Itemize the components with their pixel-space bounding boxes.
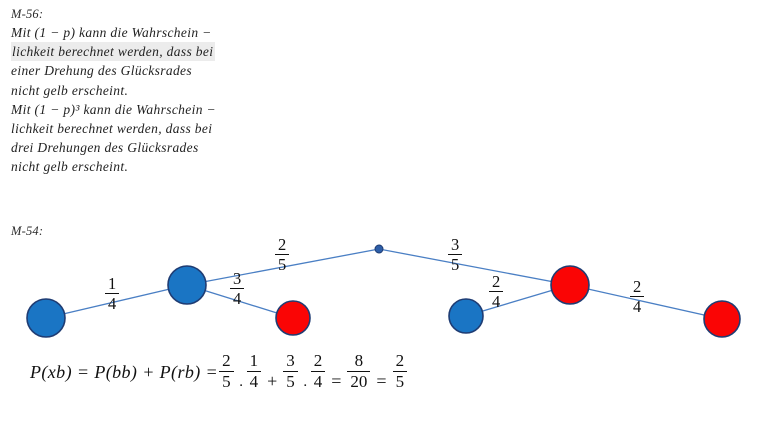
start-node-left[interactable] <box>27 299 65 337</box>
equation-fraction: 820 <box>347 352 370 391</box>
apex-dot-node[interactable] <box>375 245 383 253</box>
m56-line: drei Drehungen des Glücksrades <box>11 138 431 157</box>
probability-tree-diagram: 142534352424 <box>0 228 758 346</box>
fraction-numerator: 2 <box>393 352 408 371</box>
m56-line: nicht gelb erscheint. <box>11 157 431 176</box>
equation-terms: 25·14+35·24=820=25 <box>218 352 408 392</box>
fraction-denominator: 4 <box>230 288 244 307</box>
fraction-denominator: 4 <box>247 371 262 391</box>
equation-left-hand-side: P(xb) = P(bb) + P(rb) = <box>30 362 218 383</box>
fraction-numerator: 2 <box>275 236 289 254</box>
blue-node-level1[interactable] <box>168 266 206 304</box>
equation-fraction: 25 <box>393 352 408 391</box>
m56-line: nicht gelb erscheint. <box>11 81 431 100</box>
fraction-numerator: 1 <box>105 275 119 293</box>
fraction-denominator: 4 <box>489 291 503 310</box>
fraction-denominator: 5 <box>283 371 298 391</box>
red-node-level2-left[interactable] <box>276 301 310 335</box>
m56-line: Mit (1 − p)³ kann die Wahrschein − <box>11 100 431 119</box>
fraction: 34 <box>230 270 244 308</box>
edge-label-two-quarters-right: 24 <box>630 278 644 316</box>
fraction: 25 <box>275 236 289 274</box>
m56-line-text: Mit (1 − p)³ kann die Wahrschein − <box>11 100 431 119</box>
fraction-denominator: 5 <box>393 371 408 391</box>
m56-text-block: M-56: Mit (1 − p) kann die Wahrschein −l… <box>11 6 431 177</box>
m56-line-text: lichkeit berechnet werden, dass bei <box>11 42 215 61</box>
fraction-numerator: 2 <box>219 352 234 371</box>
fraction: 35 <box>448 236 462 274</box>
edge-label-two-quarters-left: 24 <box>489 273 503 311</box>
equation-operator: · <box>235 378 246 394</box>
equation-fraction: 35 <box>283 352 298 391</box>
fraction-numerator: 2 <box>311 352 326 371</box>
red-node-level1-right[interactable] <box>551 266 589 304</box>
m56-line-text: einer Drehung des Glücksrades <box>11 61 431 80</box>
fraction-numerator: 3 <box>230 270 244 288</box>
edge-label-three-quarters: 34 <box>230 270 244 308</box>
edge-label-three-fifths: 35 <box>448 236 462 274</box>
probability-equation: P(xb) = P(bb) + P(rb) = 25·14+35·24=820=… <box>30 352 408 392</box>
m56-line-text: nicht gelb erscheint. <box>11 81 431 100</box>
fraction-numerator: 2 <box>630 278 644 296</box>
fraction-numerator: 2 <box>489 273 503 291</box>
m56-line-text: Mit (1 − p) kann die Wahrschein − <box>11 23 431 42</box>
m56-line: Mit (1 − p) kann die Wahrschein − <box>11 23 431 42</box>
equation-fraction: 24 <box>311 352 326 391</box>
blue-node-level2-right[interactable] <box>449 299 483 333</box>
fraction: 24 <box>489 273 503 311</box>
fraction-numerator: 1 <box>247 352 262 371</box>
m56-line-text: drei Drehungen des Glücksrades <box>11 138 431 157</box>
equation-operator: + <box>262 371 282 391</box>
m56-line-text: lichkeit berechnet werden, dass bei <box>11 119 431 138</box>
fraction-numerator: 8 <box>347 352 370 371</box>
m56-line-text: nicht gelb erscheint. <box>11 157 431 176</box>
red-node-level2-far[interactable] <box>704 301 740 337</box>
fraction: 14 <box>105 275 119 313</box>
equation-operator: = <box>326 371 346 391</box>
edge-red2-to-red3 <box>570 285 722 319</box>
m56-line: lichkeit berechnet werden, dass bei <box>11 119 431 138</box>
equation-operator: = <box>371 371 391 391</box>
fraction-denominator: 20 <box>347 371 370 391</box>
equation-fraction: 25 <box>219 352 234 391</box>
fraction-denominator: 4 <box>630 296 644 315</box>
fraction-numerator: 3 <box>448 236 462 254</box>
m56-statement-lines: Mit (1 − p) kann die Wahrschein −lichkei… <box>11 23 431 177</box>
fraction-denominator: 4 <box>105 293 119 312</box>
fraction-denominator: 5 <box>219 371 234 391</box>
edge-label-two-fifths: 25 <box>275 236 289 274</box>
fraction-denominator: 5 <box>448 254 462 273</box>
fraction-denominator: 5 <box>275 254 289 273</box>
equation-fraction: 14 <box>247 352 262 391</box>
fraction-denominator: 4 <box>311 371 326 391</box>
edge-apex-to-red2 <box>379 249 570 285</box>
m56-line: einer Drehung des Glücksrades <box>11 61 431 80</box>
edge-label-one-quarter: 14 <box>105 275 119 313</box>
tree-edge-group <box>46 249 722 319</box>
equation-operator: · <box>299 378 310 394</box>
m56-line: lichkeit berechnet werden, dass bei <box>11 42 431 61</box>
m56-task-label: M-56: <box>11 6 431 23</box>
fraction: 24 <box>630 278 644 316</box>
fraction-numerator: 3 <box>283 352 298 371</box>
